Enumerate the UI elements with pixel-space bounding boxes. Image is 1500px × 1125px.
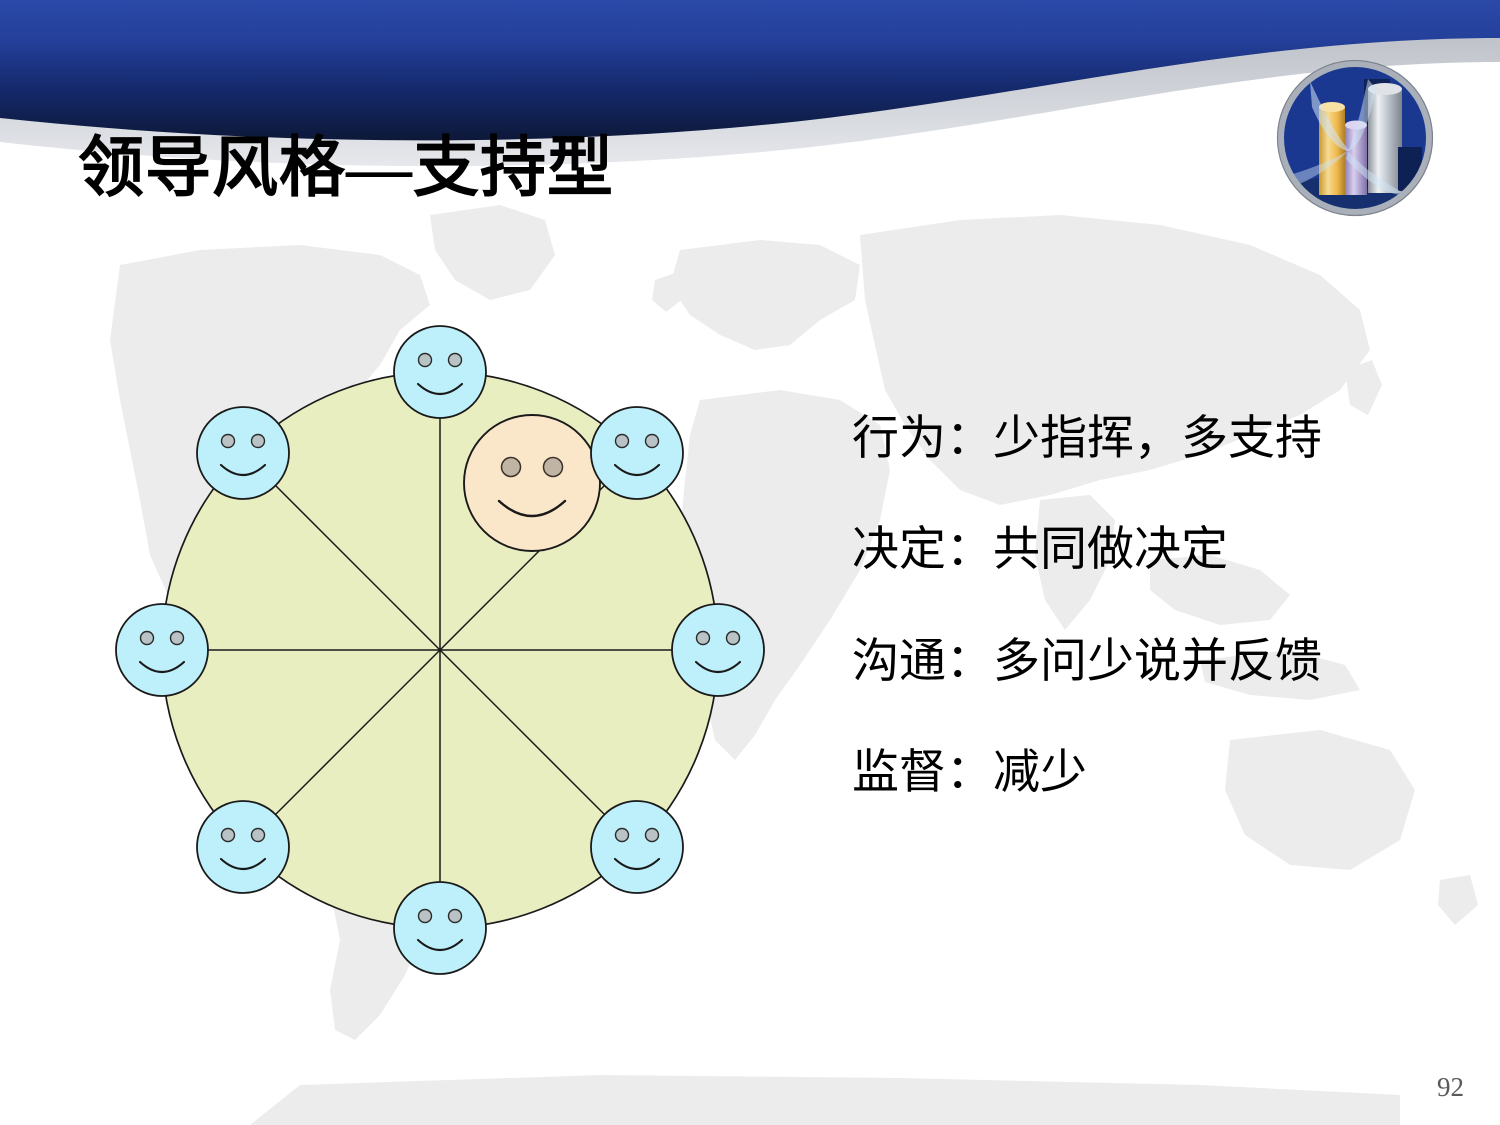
member-face-w — [116, 604, 208, 696]
page-title: 领导风格—支持型 — [78, 133, 614, 206]
page-number: 92 — [1437, 1072, 1464, 1103]
bullet-behavior: 行为：少指挥，多支持 — [852, 415, 1452, 464]
member-face-e — [672, 604, 764, 696]
team-circle-diagram — [90, 320, 810, 1020]
leader-face — [464, 415, 600, 551]
bullet-decision: 决定：共同做决定 — [852, 526, 1452, 575]
member-face-n — [394, 326, 486, 418]
member-face-nw — [197, 407, 289, 499]
bullet-list: 行为：少指挥，多支持 决定：共同做决定 沟通：多问少说并反馈 监督：减少 — [852, 415, 1452, 798]
bullet-supervision: 监督：减少 — [852, 749, 1452, 798]
bullet-communication: 沟通：多问少说并反馈 — [852, 638, 1452, 687]
chart-cylinders-logo — [1272, 55, 1438, 221]
slide-canvas: 领导风格—支持型 — [0, 0, 1500, 1125]
member-face-se — [591, 801, 683, 893]
member-face-s — [394, 882, 486, 974]
member-face-ne — [591, 407, 683, 499]
member-face-sw — [197, 801, 289, 893]
